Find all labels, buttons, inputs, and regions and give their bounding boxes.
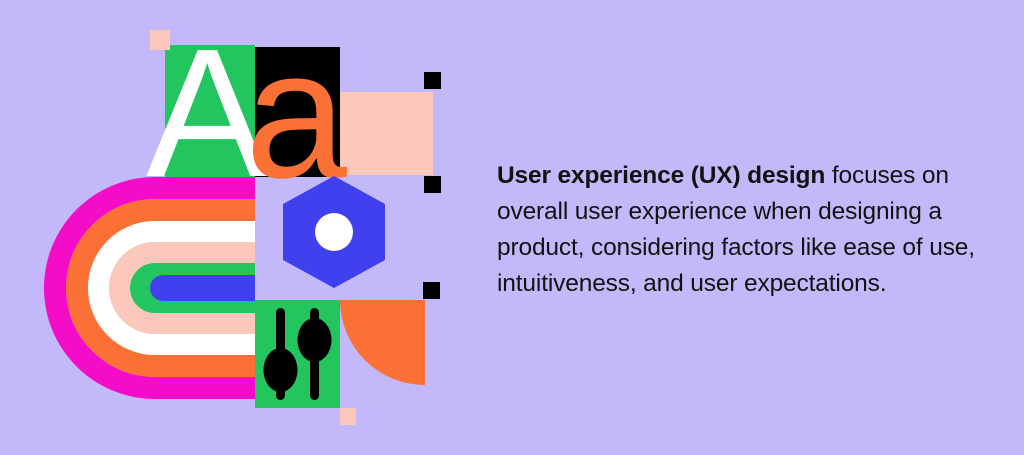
description-paragraph: User experience (UX) design focuses on o… [497, 158, 975, 302]
description-block: User experience (UX) design focuses on o… [497, 158, 975, 302]
concentric-arc-blue [150, 275, 255, 301]
black-marker-square-bottom [423, 282, 440, 299]
pink-square-bottom [340, 408, 356, 425]
poster-canvas: A a [0, 0, 1024, 455]
orange-quarter-disc [340, 300, 425, 385]
black-marker-square-top [424, 72, 441, 89]
description-lead: User experience (UX) design [497, 162, 825, 189]
pink-panel-right [340, 92, 433, 175]
hexagon-center-dot [315, 213, 353, 251]
black-marker-square-middle [424, 176, 441, 193]
ux-design-illustration: A a [0, 0, 470, 455]
